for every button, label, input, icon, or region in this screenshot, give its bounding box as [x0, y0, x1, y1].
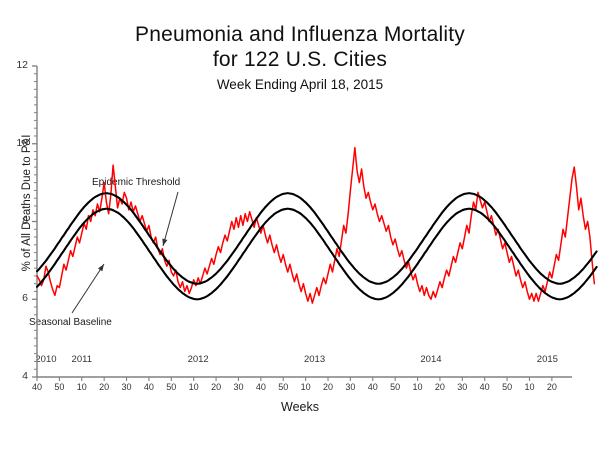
- series-epidemic-threshold: [37, 193, 597, 284]
- series-observed: [37, 148, 594, 304]
- pneumonia-influenza-mortality-chart: Pneumonia and Influenza Mortality for 12…: [0, 0, 600, 450]
- arrow-epidemic-threshold: [162, 192, 178, 246]
- arrow-seasonal-baseline: [72, 264, 104, 313]
- plot-canvas: [0, 0, 600, 450]
- series-seasonal-baseline: [37, 209, 597, 300]
